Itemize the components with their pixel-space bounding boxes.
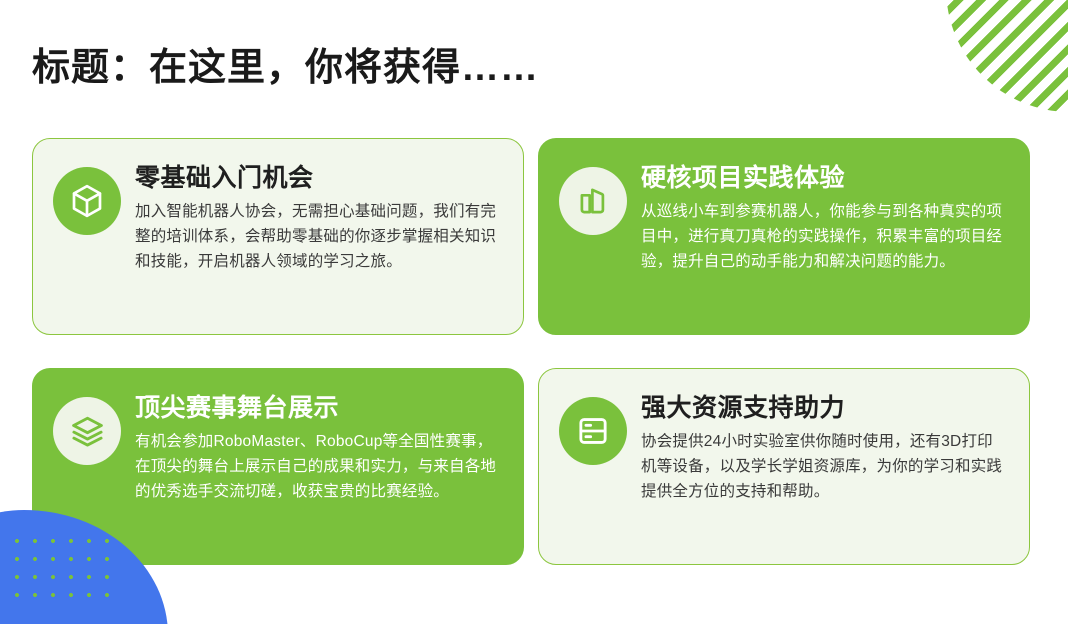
cube-icon (53, 167, 121, 235)
feature-card-4-description: 协会提供24小时实验室供你随时使用，还有3D打印机等设备，以及学长学姐资源库，为… (641, 429, 1007, 504)
layers-icon (53, 397, 121, 465)
feature-card-grid: 零基础入门机会 加入智能机器人协会，无需担心基础问题，我们有完整的培训体系，会帮… (32, 138, 1030, 565)
server-icon (559, 397, 627, 465)
feature-card-1-heading: 零基础入门机会 (135, 163, 501, 193)
feature-card-1-description: 加入智能机器人协会，无需担心基础问题，我们有完整的培训体系，会帮助零基础的你逐步… (135, 199, 501, 274)
feature-card-2[interactable]: 硬核项目实践体验 从巡线小车到参赛机器人，你能参与到各种真实的项目中，进行真刀真… (538, 138, 1030, 335)
feature-card-3[interactable]: 顶尖赛事舞台展示 有机会参加RoboMaster、RoboCup等全国性赛事，在… (32, 368, 524, 565)
feature-card-3-body: 顶尖赛事舞台展示 有机会参加RoboMaster、RoboCup等全国性赛事，在… (135, 391, 501, 504)
diagonal-stripes-decoration (946, 0, 1068, 112)
feature-card-4[interactable]: 强大资源支持助力 协会提供24小时实验室供你随时使用，还有3D打印机等设备，以及… (538, 368, 1030, 565)
feature-card-3-heading: 顶尖赛事舞台展示 (135, 393, 501, 423)
slide-canvas: 标题：在这里，你将获得…… 零基础入门机会 加入智能机器人协会，无需担心基础问题… (0, 0, 1068, 624)
page-title: 标题：在这里，你将获得…… (32, 36, 539, 91)
feature-card-4-heading: 强大资源支持助力 (641, 393, 1007, 423)
feature-card-1-body: 零基础入门机会 加入智能机器人协会，无需担心基础问题，我们有完整的培训体系，会帮… (135, 161, 501, 274)
feature-card-3-description: 有机会参加RoboMaster、RoboCup等全国性赛事，在顶尖的舞台上展示自… (135, 429, 501, 504)
bar-chart-icon (559, 167, 627, 235)
feature-card-1[interactable]: 零基础入门机会 加入智能机器人协会，无需担心基础问题，我们有完整的培训体系，会帮… (32, 138, 524, 335)
feature-card-2-body: 硬核项目实践体验 从巡线小车到参赛机器人，你能参与到各种真实的项目中，进行真刀真… (641, 161, 1007, 274)
feature-card-2-description: 从巡线小车到参赛机器人，你能参与到各种真实的项目中，进行真刀真枪的实践操作，积累… (641, 199, 1007, 274)
feature-card-4-body: 强大资源支持助力 协会提供24小时实验室供你随时使用，还有3D打印机等设备，以及… (641, 391, 1007, 504)
feature-card-2-heading: 硬核项目实践体验 (641, 163, 1007, 193)
